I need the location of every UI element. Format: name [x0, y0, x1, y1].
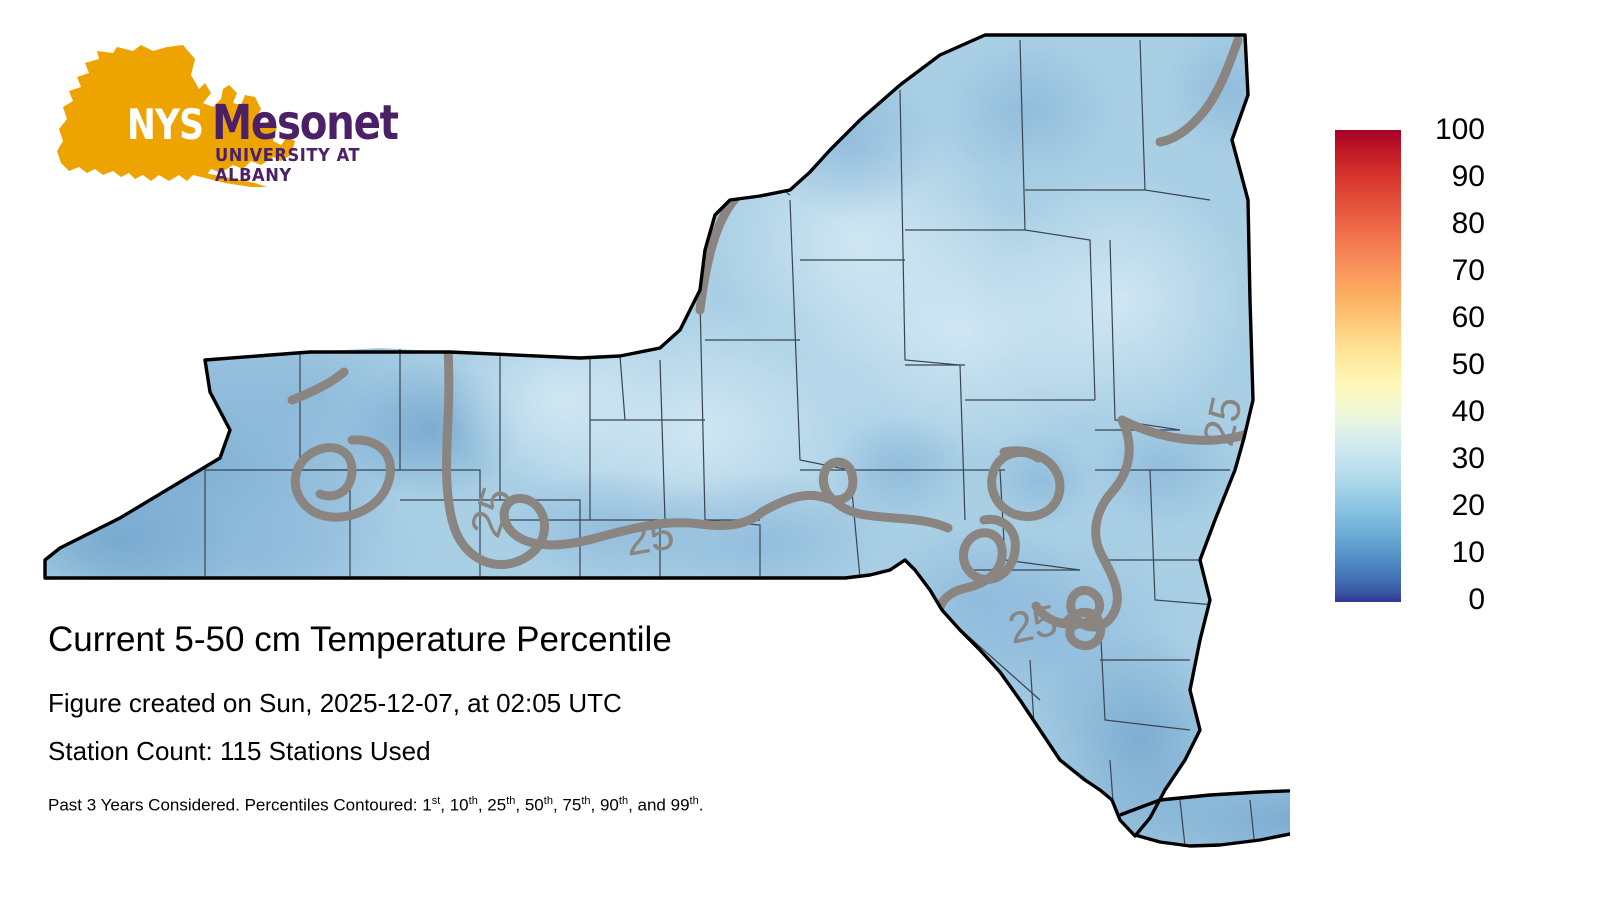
ordinal-suffix: th	[544, 795, 553, 807]
ordinal-suffix: st	[432, 795, 441, 807]
colorbar-tick-100: 100	[1407, 115, 1485, 145]
colorbar-tick-20: 20	[1407, 491, 1485, 521]
colorbar-tick-90: 90	[1407, 162, 1485, 192]
contour-label-25-south: 25	[1004, 596, 1062, 654]
colorbar-gradient	[1335, 130, 1401, 602]
colorbar-tick-70: 70	[1407, 256, 1485, 286]
colorbar-tick-10: 10	[1407, 538, 1485, 568]
ordinal-suffix: th	[506, 795, 515, 807]
contour-label-25-central: 25	[621, 509, 678, 566]
station-count-text: Station Count: 115 Stations Used	[48, 736, 1008, 767]
ordinal-suffix: th	[469, 795, 478, 807]
page-title: Current 5-50 cm Temperature Percentile	[48, 620, 1008, 660]
ordinal-suffix: th	[690, 795, 699, 807]
ordinal-suffix: th	[619, 795, 628, 807]
colorbar-tick-60: 60	[1407, 303, 1485, 333]
colorbar-tick-0: 0	[1407, 585, 1485, 615]
colorbar-tick-30: 30	[1407, 444, 1485, 474]
colorbar-tick-50: 50	[1407, 350, 1485, 380]
ordinal-suffix: th	[581, 795, 590, 807]
caption-block: Current 5-50 cm Temperature Percentile F…	[48, 620, 1008, 816]
footnote-text: Past 3 Years Considered. Percentiles Con…	[48, 795, 1008, 816]
percentile-colorbar: 100 90 80 70 60 50 40 30 20 10 0	[1335, 130, 1495, 605]
colorbar-tick-80: 80	[1407, 209, 1485, 239]
colorbar-tick-40: 40	[1407, 397, 1485, 427]
figure-created-text: Figure created on Sun, 2025-12-07, at 02…	[48, 688, 1008, 719]
